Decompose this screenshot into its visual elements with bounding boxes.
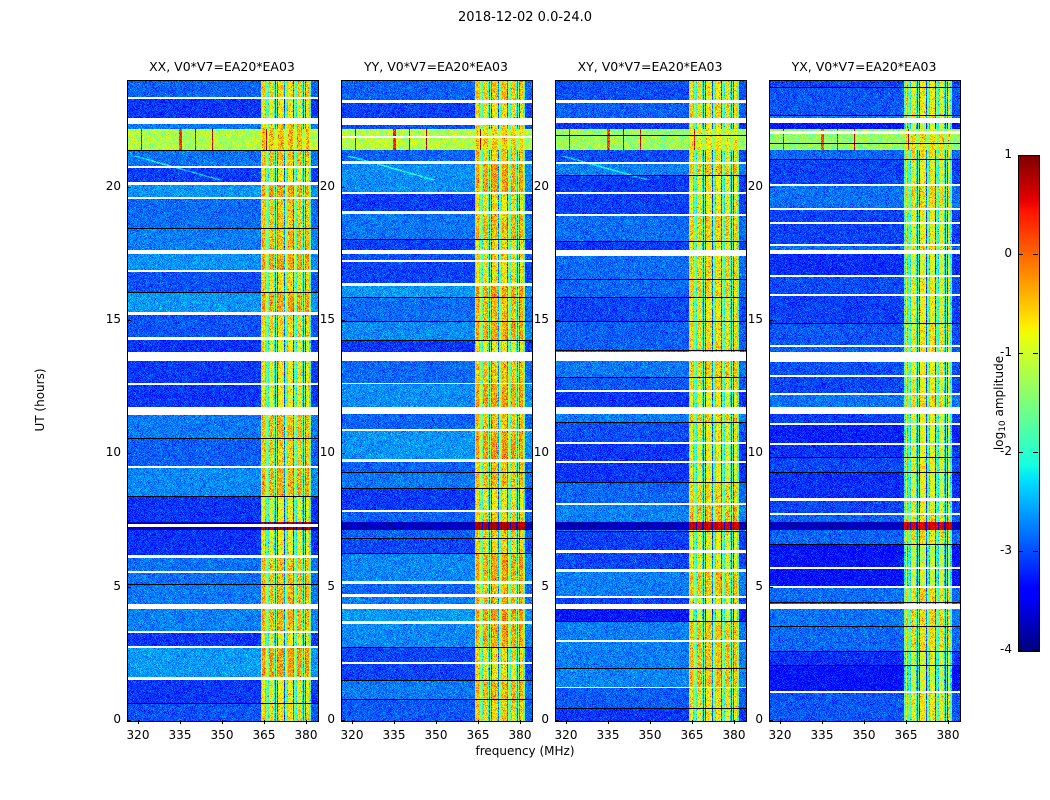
panel-title-yx: YX, V0*V7=EA20*EA03 bbox=[769, 59, 959, 75]
y-tick-label-5: 5 bbox=[515, 579, 549, 593]
y-tick-label-5: 5 bbox=[301, 579, 335, 593]
colorbar-tick-label--1: -1 bbox=[986, 345, 1012, 359]
y-tick-mark bbox=[555, 453, 559, 454]
x-tick-label-320: 320 bbox=[118, 728, 158, 742]
x-tick-label-335: 335 bbox=[588, 728, 628, 742]
colorbar-tick-mark bbox=[1033, 155, 1038, 156]
y-tick-label-20: 20 bbox=[729, 179, 763, 193]
x-tick-mark bbox=[394, 720, 395, 724]
colorbar-tick-label-1: 1 bbox=[986, 147, 1012, 161]
colorbar-tick-mark bbox=[1018, 155, 1023, 156]
y-tick-mark bbox=[769, 587, 773, 588]
colorbar-tick-label-0: 0 bbox=[986, 246, 1012, 260]
y-tick-mark bbox=[555, 720, 559, 721]
x-tick-mark bbox=[734, 720, 735, 724]
x-tick-label-380: 380 bbox=[500, 728, 540, 742]
y-tick-label-15: 15 bbox=[87, 312, 121, 326]
y-tick-mark bbox=[127, 587, 131, 588]
y-tick-label-5: 5 bbox=[729, 579, 763, 593]
x-tick-mark bbox=[948, 720, 949, 724]
x-tick-mark bbox=[180, 720, 181, 724]
x-tick-label-335: 335 bbox=[160, 728, 200, 742]
x-tick-mark bbox=[906, 720, 907, 724]
x-tick-mark bbox=[222, 720, 223, 724]
x-axis-label: frequency (MHz) bbox=[0, 744, 1050, 758]
colorbar-tick-mark bbox=[1033, 551, 1038, 552]
y-tick-label-15: 15 bbox=[729, 312, 763, 326]
colorbar-label: log10 amplitude bbox=[992, 356, 1008, 450]
y-tick-mark bbox=[341, 453, 345, 454]
colorbar-label-sub: 10 bbox=[998, 420, 1008, 431]
x-tick-label-365: 365 bbox=[458, 728, 498, 742]
x-tick-label-365: 365 bbox=[672, 728, 712, 742]
panel-title-xy: XY, V0*V7=EA20*EA03 bbox=[555, 59, 745, 75]
colorbar-tick-mark bbox=[1033, 452, 1038, 453]
x-tick-label-320: 320 bbox=[760, 728, 800, 742]
x-tick-label-350: 350 bbox=[630, 728, 670, 742]
panel-title-xx: XX, V0*V7=EA20*EA03 bbox=[127, 59, 317, 75]
x-tick-mark bbox=[780, 720, 781, 724]
figure-suptitle: 2018-12-02 0.0-24.0 bbox=[0, 10, 1050, 25]
x-tick-label-335: 335 bbox=[374, 728, 414, 742]
colorbar-tick-mark bbox=[1018, 254, 1023, 255]
y-tick-mark bbox=[555, 587, 559, 588]
x-tick-mark bbox=[138, 720, 139, 724]
y-tick-mark bbox=[341, 320, 345, 321]
y-tick-label-0: 0 bbox=[87, 712, 121, 726]
y-tick-label-10: 10 bbox=[301, 445, 335, 459]
y-tick-label-15: 15 bbox=[301, 312, 335, 326]
y-tick-mark bbox=[555, 320, 559, 321]
y-tick-mark bbox=[127, 453, 131, 454]
y-tick-mark bbox=[769, 453, 773, 454]
y-tick-mark bbox=[769, 320, 773, 321]
y-tick-mark bbox=[555, 187, 559, 188]
x-tick-mark bbox=[650, 720, 651, 724]
y-tick-mark bbox=[127, 320, 131, 321]
x-tick-label-365: 365 bbox=[886, 728, 926, 742]
spectrum-panel-yx[interactable] bbox=[769, 80, 961, 722]
colorbar-gradient bbox=[1019, 156, 1039, 651]
panel-title-yy: YY, V0*V7=EA20*EA03 bbox=[341, 59, 531, 75]
x-tick-label-320: 320 bbox=[546, 728, 586, 742]
x-tick-label-380: 380 bbox=[286, 728, 326, 742]
x-tick-mark bbox=[436, 720, 437, 724]
spectrum-image bbox=[556, 81, 746, 721]
x-tick-mark bbox=[352, 720, 353, 724]
x-tick-label-320: 320 bbox=[332, 728, 372, 742]
x-tick-mark bbox=[864, 720, 865, 724]
y-tick-label-5: 5 bbox=[87, 579, 121, 593]
spectrum-image bbox=[342, 81, 532, 721]
x-tick-mark bbox=[692, 720, 693, 724]
y-tick-mark bbox=[341, 587, 345, 588]
colorbar-tick-mark bbox=[1018, 650, 1023, 651]
y-tick-label-20: 20 bbox=[87, 179, 121, 193]
x-tick-label-335: 335 bbox=[802, 728, 842, 742]
colorbar-tick-mark bbox=[1018, 452, 1023, 453]
spectrum-image bbox=[128, 81, 318, 721]
y-tick-mark bbox=[341, 187, 345, 188]
colorbar-tick-mark bbox=[1018, 353, 1023, 354]
x-tick-mark bbox=[566, 720, 567, 724]
x-tick-mark bbox=[264, 720, 265, 724]
y-tick-label-15: 15 bbox=[515, 312, 549, 326]
colorbar-tick-mark bbox=[1018, 551, 1023, 552]
x-tick-mark bbox=[608, 720, 609, 724]
y-tick-label-20: 20 bbox=[515, 179, 549, 193]
colorbar-tick-label--3: -3 bbox=[986, 543, 1012, 557]
x-tick-label-365: 365 bbox=[244, 728, 284, 742]
spectrum-panel-xy[interactable] bbox=[555, 80, 747, 722]
colorbar-tick-mark bbox=[1033, 254, 1038, 255]
colorbar-tick-mark bbox=[1033, 353, 1038, 354]
y-tick-label-10: 10 bbox=[87, 445, 121, 459]
spectrum-image bbox=[770, 81, 960, 721]
y-tick-mark bbox=[769, 720, 773, 721]
spectrum-panel-xx[interactable] bbox=[127, 80, 319, 722]
x-tick-label-350: 350 bbox=[416, 728, 456, 742]
x-tick-label-350: 350 bbox=[844, 728, 884, 742]
y-tick-label-10: 10 bbox=[515, 445, 549, 459]
x-tick-label-380: 380 bbox=[928, 728, 968, 742]
x-tick-label-350: 350 bbox=[202, 728, 242, 742]
colorbar bbox=[1018, 155, 1040, 652]
y-tick-mark bbox=[127, 187, 131, 188]
colorbar-tick-label--4: -4 bbox=[986, 642, 1012, 656]
y-tick-label-10: 10 bbox=[729, 445, 763, 459]
colorbar-tick-label--2: -2 bbox=[986, 444, 1012, 458]
x-tick-mark bbox=[520, 720, 521, 724]
colorbar-tick-mark bbox=[1033, 650, 1038, 651]
x-tick-mark bbox=[822, 720, 823, 724]
y-tick-mark bbox=[341, 720, 345, 721]
x-tick-mark bbox=[478, 720, 479, 724]
colorbar-label-tail: amplitude bbox=[992, 356, 1006, 420]
x-tick-mark bbox=[306, 720, 307, 724]
y-tick-mark bbox=[769, 187, 773, 188]
x-tick-label-380: 380 bbox=[714, 728, 754, 742]
y-tick-label-20: 20 bbox=[301, 179, 335, 193]
y-axis-label: UT (hours) bbox=[33, 368, 47, 431]
spectrum-panel-yy[interactable] bbox=[341, 80, 533, 722]
y-tick-mark bbox=[127, 720, 131, 721]
